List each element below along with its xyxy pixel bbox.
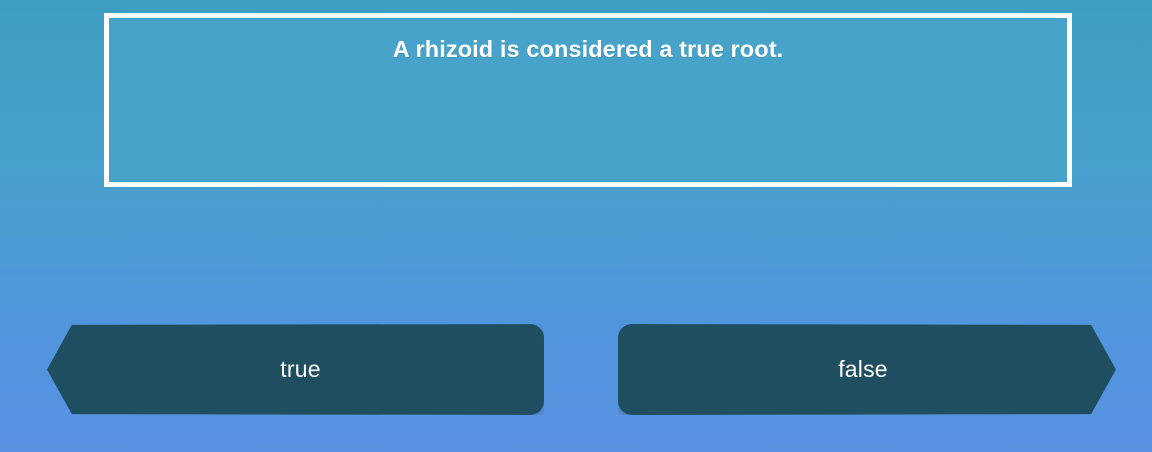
answer-button-false[interactable]: false bbox=[618, 324, 1116, 415]
answer-button-true[interactable]: true bbox=[47, 324, 544, 415]
quiz-screen: A rhizoid is considered a true root. tru… bbox=[0, 0, 1152, 452]
answer-button-true-label: true bbox=[280, 358, 320, 381]
answer-button-false-label: false bbox=[838, 358, 888, 381]
question-text: A rhizoid is considered a true root. bbox=[393, 35, 784, 64]
question-panel: A rhizoid is considered a true root. bbox=[104, 13, 1072, 187]
answer-options: true false bbox=[0, 324, 1152, 416]
